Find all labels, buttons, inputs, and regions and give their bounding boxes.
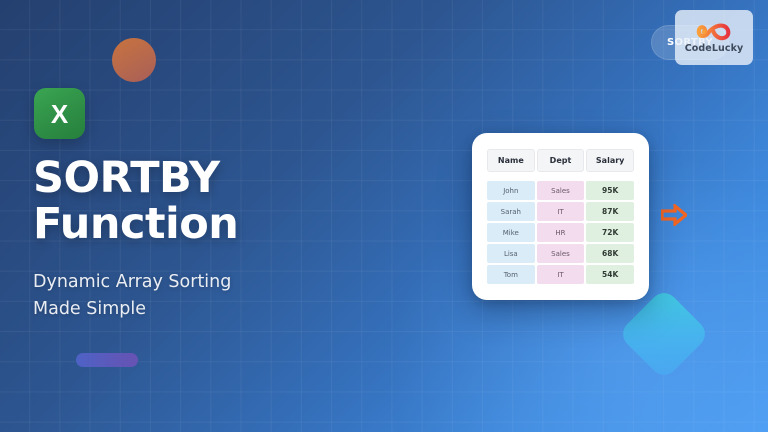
excel-x-icon: X [34, 88, 85, 139]
cell-name: Tom [487, 265, 535, 284]
column-header-salary: Salary [586, 149, 634, 172]
subtitle-line-2: Made Simple [33, 296, 333, 323]
cell-name: Sarah [487, 202, 535, 221]
decorative-circle [112, 38, 156, 82]
slide-canvas: X SORTBY Function Dynamic Array Sorting … [0, 0, 768, 432]
decorative-pill [76, 353, 138, 367]
cell-salary: 95K [586, 181, 634, 200]
excel-icon-letter: X [51, 101, 68, 127]
codelucky-infinity-icon [695, 21, 733, 42]
title-line-primary: SORTBY [33, 157, 363, 201]
column-header-dept: Dept [537, 149, 585, 172]
arrow-right-icon [661, 204, 687, 226]
cell-dept: IT [537, 265, 585, 284]
column-header-name: Name [487, 149, 535, 172]
codelucky-watermark: CodeLucky [675, 10, 753, 65]
page-title: SORTBY Function [33, 157, 363, 247]
cell-dept: Sales [537, 181, 585, 200]
subtitle-line-1: Dynamic Array Sorting [33, 269, 333, 296]
table-header-row: Name Dept Salary [487, 149, 634, 172]
table-header-spacer [487, 174, 634, 179]
table-row: Mike HR 72K [487, 223, 634, 242]
page-subtitle: Dynamic Array Sorting Made Simple [33, 269, 333, 323]
table-body: John Sales 95K Sarah IT 87K Mike HR 72K … [487, 181, 634, 284]
cell-salary: 72K [586, 223, 634, 242]
data-table: Name Dept Salary John Sales 95K Sarah IT [485, 147, 636, 286]
table-row: John Sales 95K [487, 181, 634, 200]
cell-name: John [487, 181, 535, 200]
cell-salary: 68K [586, 244, 634, 263]
cell-salary: 87K [586, 202, 634, 221]
cell-dept: HR [537, 223, 585, 242]
table-header: Name Dept Salary [487, 149, 634, 179]
cell-name: Lisa [487, 244, 535, 263]
decorative-diamond [617, 287, 710, 380]
title-line-secondary: Function [33, 203, 363, 247]
cell-salary: 54K [586, 265, 634, 284]
cell-name: Mike [487, 223, 535, 242]
table-row: Sarah IT 87K [487, 202, 634, 221]
table-row: Tom IT 54K [487, 265, 634, 284]
table-row: Lisa Sales 68K [487, 244, 634, 263]
data-table-card: Name Dept Salary John Sales 95K Sarah IT [472, 133, 649, 300]
cell-dept: Sales [537, 244, 585, 263]
codelucky-label: CodeLucky [685, 43, 744, 54]
cell-dept: IT [537, 202, 585, 221]
spacer-cell [487, 174, 634, 179]
